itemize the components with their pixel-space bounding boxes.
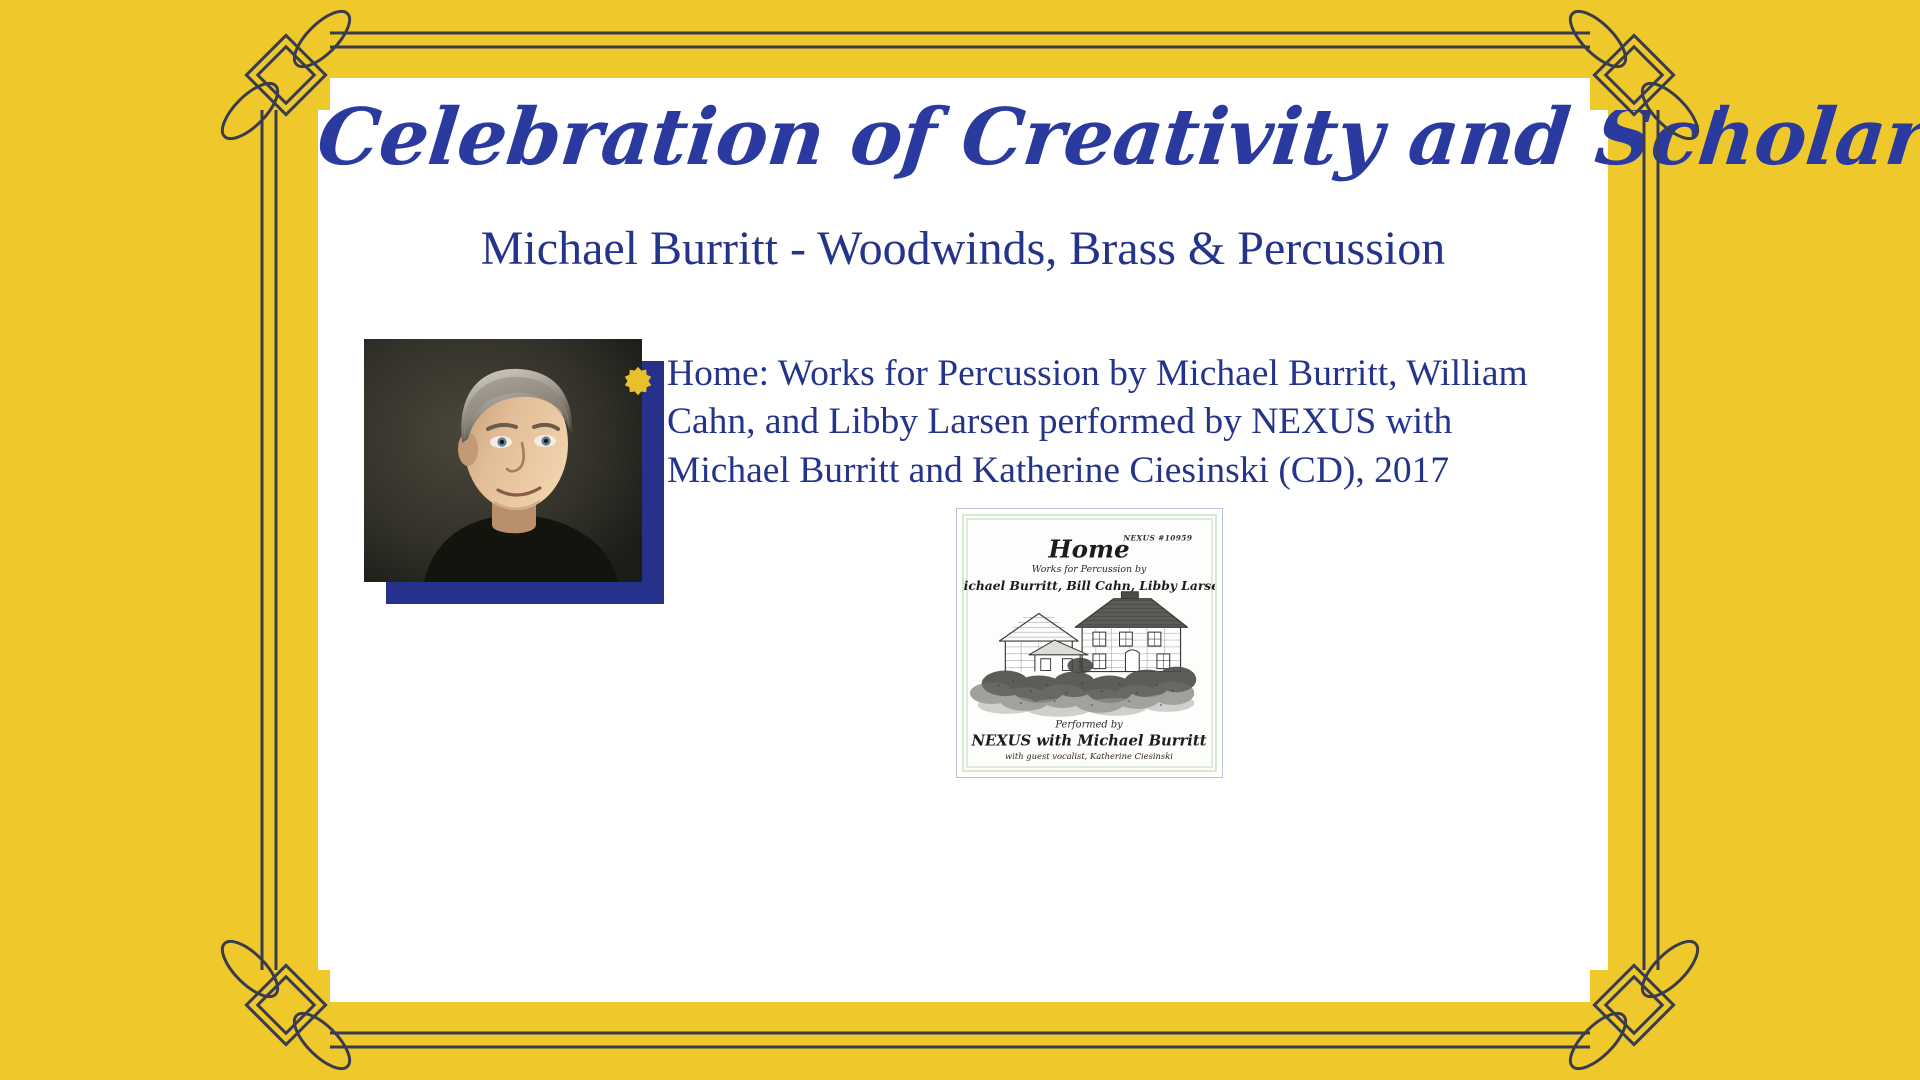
cd-performers: NEXUS with Michael Burritt	[970, 732, 1206, 749]
cd-cover-artwork: NEXUS #10959 Home Works for Percussion b…	[964, 516, 1215, 770]
cd-album-title: Home	[1047, 534, 1129, 563]
cd-cover-image: NEXUS #10959 Home Works for Percussion b…	[956, 508, 1223, 778]
slide-content-card: Celebration of Creativity and Scholarshi…	[318, 78, 1608, 1002]
bullet-item: Home: Works for Percussion by Michael Bu…	[623, 350, 1578, 495]
cd-foliage	[970, 667, 1196, 717]
cd-guest-vocalist: with guest vocalist, Katherine Ciesinski	[1005, 751, 1173, 761]
cd-composers: Michael Burritt, Bill Cahn, Libby Larsen	[964, 578, 1215, 593]
bullet-text: Home: Works for Percussion by Michael Bu…	[667, 350, 1578, 495]
cd-performed-by-label: Performed by	[1054, 720, 1123, 731]
page-subtitle: Michael Burritt - Woodwinds, Brass & Per…	[318, 220, 1608, 278]
portrait-figure	[364, 339, 664, 604]
page-title: Celebration of Creativity and Scholarshi…	[313, 88, 1613, 188]
cd-subtitle: Works for Percussion by	[1032, 564, 1147, 575]
gold-starburst-icon	[623, 366, 653, 396]
portrait-photo	[364, 339, 642, 582]
cd-catalog-number: NEXUS #10959	[1122, 534, 1192, 543]
